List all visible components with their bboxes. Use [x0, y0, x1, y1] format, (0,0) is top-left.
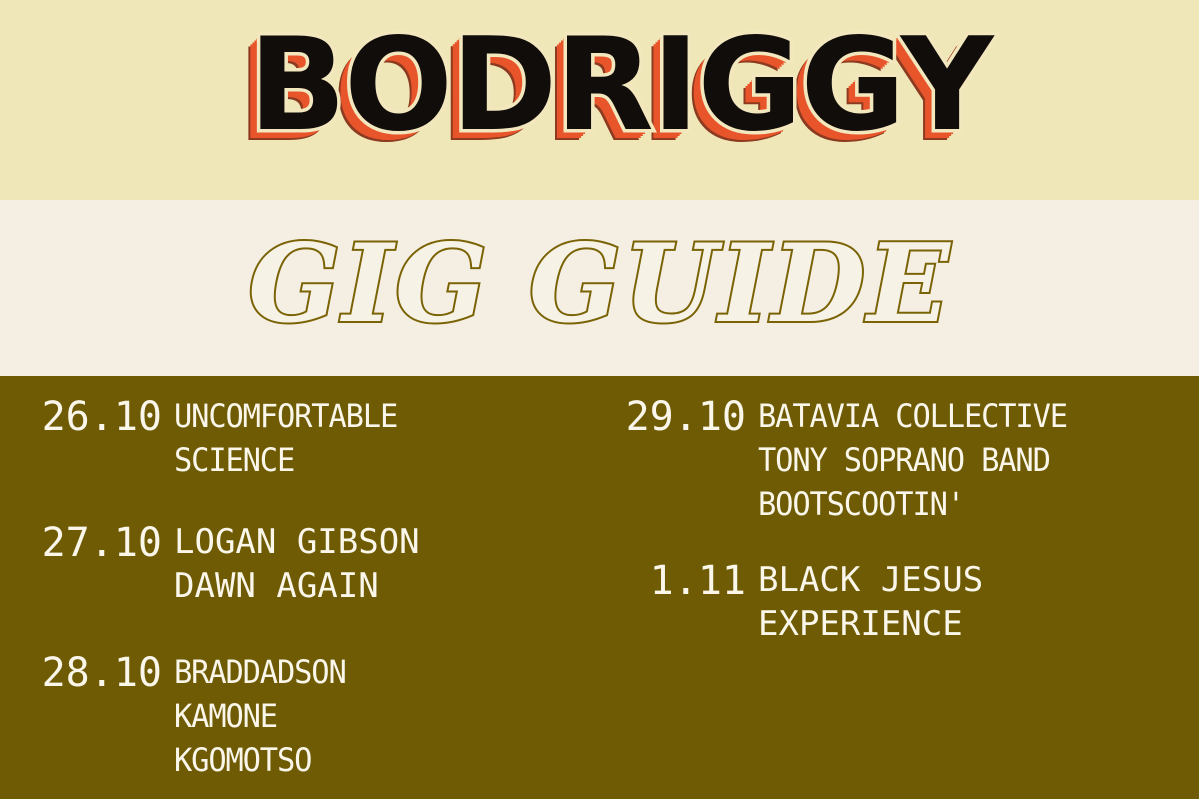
gig-act: BATAVIA COLLECTIVE: [758, 394, 1177, 438]
gig-entry[interactable]: 1.11 BLACK JESUS EXPERIENCE: [585, 558, 1199, 646]
gig-act: EXPERIENCE: [758, 602, 1199, 646]
gig-act: DAWN AGAIN: [174, 564, 600, 608]
gig-entry[interactable]: 28.10 BRADDADSON KAMONE KGOMOTSO: [0, 650, 600, 782]
gig-act: BOOTSCOOTIN': [758, 482, 1177, 526]
listings: 26.10 UNCOMFORTABLE SCIENCE 27.10 LOGAN …: [0, 376, 1199, 799]
gig-acts: LOGAN GIBSON DAWN AGAIN: [174, 520, 600, 608]
logo-face: BODRIGGY: [248, 11, 994, 160]
page-title-text: GIG GUIDE: [248, 221, 952, 347]
brand-logo: BODRIGGY BODRIGGY BODRIGGY BODRIGGY BODR…: [0, 0, 1199, 200]
gig-act: BRADDADSON: [174, 650, 579, 694]
page-title-svg: GIG GUIDE: [250, 223, 950, 353]
listings-column-right: 29.10 BATAVIA COLLECTIVE TONY SOPRANO BA…: [585, 376, 1199, 799]
gig-act: UNCOMFORTABLE: [174, 394, 579, 438]
gig-date: 29.10: [610, 394, 758, 440]
page-title: GIG GUIDE: [0, 200, 1199, 376]
gig-acts: BRADDADSON KAMONE KGOMOTSO: [174, 650, 600, 782]
gig-entry[interactable]: 26.10 UNCOMFORTABLE SCIENCE: [0, 394, 600, 482]
gig-entry[interactable]: 29.10 BATAVIA COLLECTIVE TONY SOPRANO BA…: [585, 394, 1199, 526]
gig-date: 27.10: [26, 520, 174, 566]
gig-act: TONY SOPRANO BAND: [758, 438, 1177, 482]
gig-acts: BATAVIA COLLECTIVE TONY SOPRANO BAND BOO…: [758, 394, 1199, 526]
gig-act: KAMONE: [174, 694, 579, 738]
gig-acts: UNCOMFORTABLE SCIENCE: [174, 394, 600, 482]
gig-act: LOGAN GIBSON: [174, 520, 600, 564]
gig-acts: BLACK JESUS EXPERIENCE: [758, 558, 1199, 646]
gig-guide-poster: BODRIGGY BODRIGGY BODRIGGY BODRIGGY BODR…: [0, 0, 1199, 799]
gig-date: 28.10: [26, 650, 174, 696]
gig-date: 1.11: [610, 558, 758, 604]
gig-act: BLACK JESUS: [758, 558, 1199, 602]
listings-column-left: 26.10 UNCOMFORTABLE SCIENCE 27.10 LOGAN …: [0, 376, 600, 799]
brand-logo-svg: BODRIGGY BODRIGGY BODRIGGY BODRIGGY BODR…: [220, 25, 980, 175]
gig-entry[interactable]: 27.10 LOGAN GIBSON DAWN AGAIN: [0, 520, 600, 608]
gig-act: KGOMOTSO: [174, 738, 579, 782]
gig-act: SCIENCE: [174, 438, 579, 482]
gig-date: 26.10: [26, 394, 174, 440]
